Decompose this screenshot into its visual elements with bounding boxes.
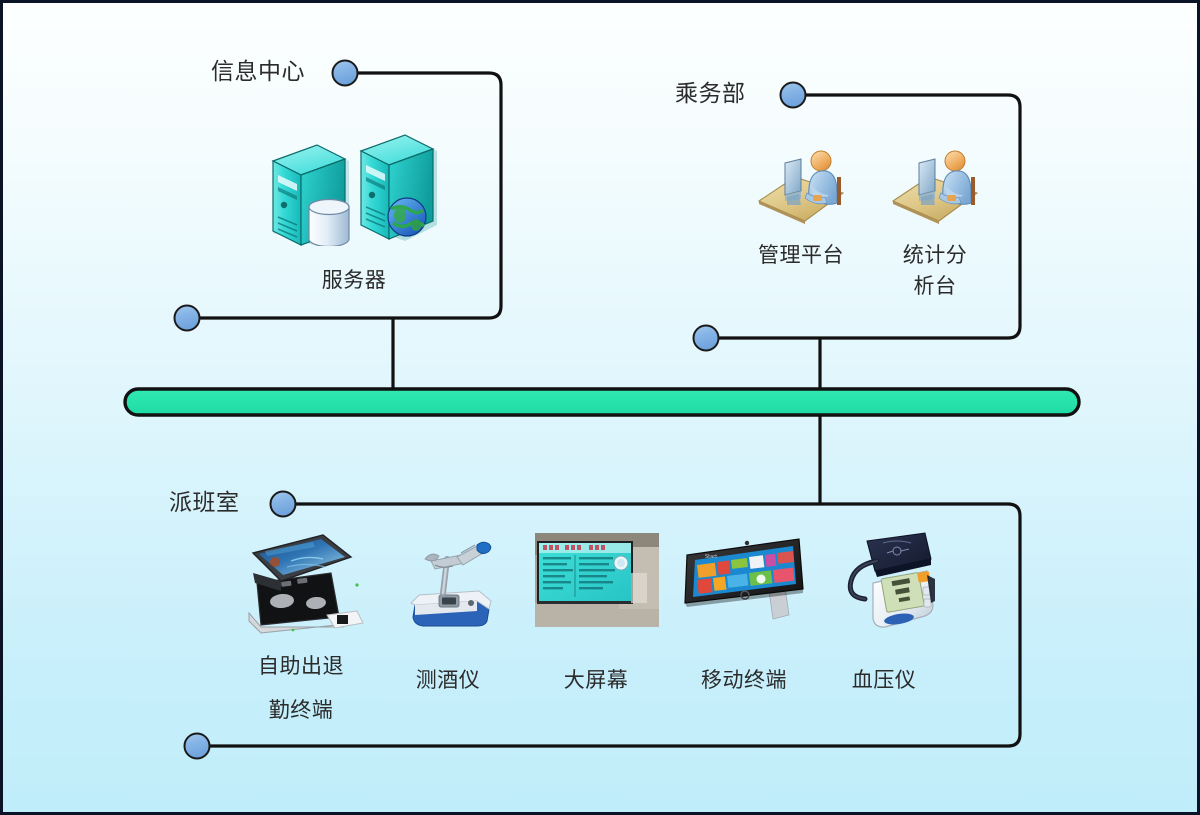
topology-diagram: 信息中心 乘务部 派班室 — [0, 0, 1200, 815]
node-label-mobile-terminal: 移动终端 — [669, 665, 819, 695]
node-label-self-attendance-line2: 勤终端 — [225, 695, 377, 725]
tablet-icon[interactable]: Start — [681, 533, 807, 625]
zone-node-crew-dept-bottom[interactable] — [694, 326, 719, 351]
breathalyzer-icon[interactable] — [395, 533, 501, 633]
node-label-stat-analysis-line1: 统计分 — [860, 240, 1010, 270]
node-label-self-attendance-line1: 自助出退 — [225, 651, 377, 681]
workstation-user-icon[interactable] — [755, 139, 847, 225]
svg-text:Start: Start — [705, 554, 717, 560]
node-label-large-screen: 大屏幕 — [521, 665, 671, 695]
server-stack-icon[interactable] — [265, 121, 437, 246]
zone-node-info-center-top[interactable] — [333, 61, 358, 86]
database-cylinder-icon — [309, 200, 349, 247]
zone-node-dispatch-room-top[interactable] — [271, 492, 296, 517]
zone-label-crew-dept: 乘务部 — [675, 83, 746, 106]
node-label-blood-pressure: 血压仪 — [809, 665, 959, 695]
network-bus — [125, 389, 1079, 415]
zone-label-dispatch-room: 派班室 — [169, 492, 240, 515]
zone-label-info-center: 信息中心 — [211, 61, 305, 84]
zone-node-dispatch-room-bottom[interactable] — [185, 734, 210, 759]
node-label-server: 服务器 — [279, 265, 429, 295]
node-label-stat-analysis-line2: 析台 — [860, 271, 1010, 301]
large-screen-icon[interactable] — [535, 533, 659, 627]
zone-node-info-center-bottom[interactable] — [175, 306, 200, 331]
globe-icon — [388, 198, 426, 236]
node-label-mgmt-platform: 管理平台 — [726, 240, 876, 270]
kiosk-terminal-icon[interactable] — [235, 531, 367, 635]
zone-node-crew-dept-top[interactable] — [781, 83, 806, 108]
workstation-user-icon[interactable] — [889, 139, 981, 225]
blood-pressure-monitor-icon[interactable] — [831, 531, 939, 635]
node-label-breathalyzer: 测酒仪 — [373, 665, 523, 695]
